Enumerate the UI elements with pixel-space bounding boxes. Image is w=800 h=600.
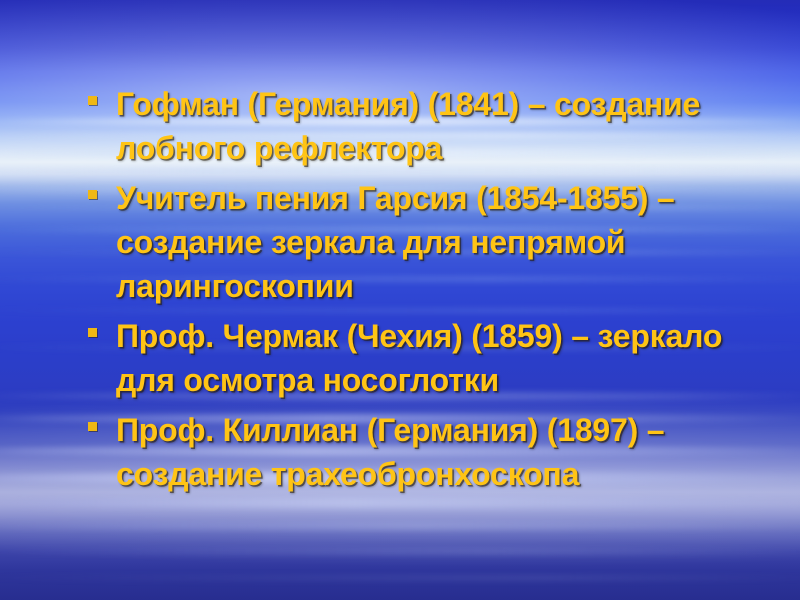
bullet-item-garcia-1854-1855: Учитель пения Гарсия (1854-1855) – созда… (86, 176, 758, 308)
bullet-item-czermak-1859: Проф. Чермак (Чехия) (1859) – зеркало дл… (86, 314, 758, 402)
cloud-streak (0, 522, 800, 530)
bullet-item-killian-1897: Проф. Киллиан (Германия) (1897) – создан… (86, 408, 758, 496)
bullet-item-hofmann-1841: Гофман (Германия) (1841) – создание лобн… (86, 82, 758, 170)
presentation-slide: Гофман (Германия) (1841) – создание лобн… (0, 0, 800, 600)
cloud-streak (0, 575, 800, 581)
slide-body-text: Гофман (Германия) (1841) – создание лобн… (86, 82, 758, 502)
cloud-streak (0, 548, 800, 555)
